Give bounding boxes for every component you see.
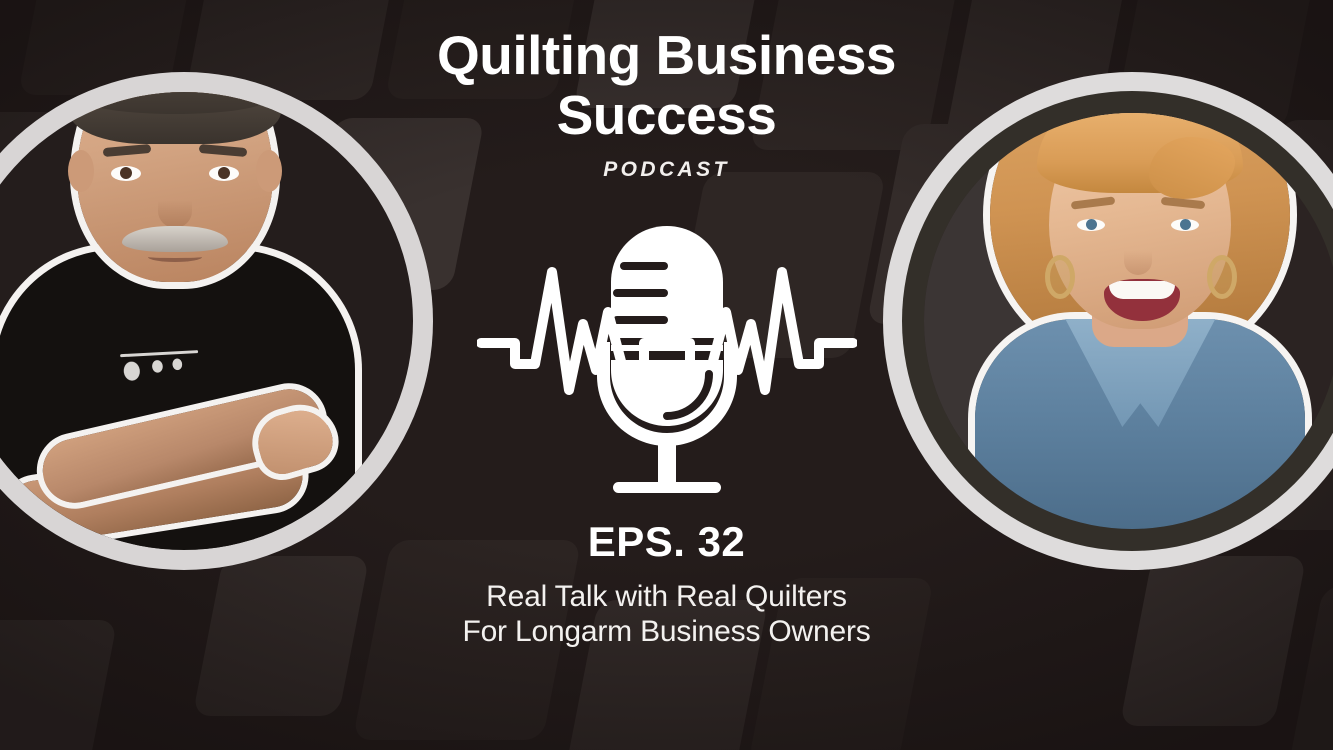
woman-earring-right (1207, 255, 1237, 299)
woman-earring-left (1045, 255, 1075, 299)
portrait-right-disc (924, 113, 1333, 529)
woman-eye-right (1171, 219, 1199, 231)
woman-nose (1124, 235, 1152, 275)
portrait-right-dark-ring (902, 91, 1333, 551)
man-eyebrow-left (103, 144, 152, 157)
background-tile (1119, 556, 1306, 726)
man-eye-right (209, 166, 239, 181)
episode-subtitle-line-2: For Longarm Business Owners (462, 615, 870, 650)
man-shirt-logo (111, 337, 211, 387)
portrait-circle-right (883, 72, 1333, 570)
man-mustache (122, 226, 228, 252)
center-content: Quilting Business Success PODCAST (407, 0, 927, 750)
man-mouth (148, 252, 202, 262)
man-head (77, 92, 273, 282)
episode-info: EPS. 32 Real Talk with Real Quilters For… (462, 518, 870, 650)
background-tile (192, 556, 369, 716)
man-eye-left (111, 166, 141, 181)
woman-teeth (1109, 281, 1175, 299)
host-photo-man (0, 92, 390, 550)
man-ear-right (256, 150, 282, 192)
podcast-cover: Quilting Business Success PODCAST (0, 0, 1333, 750)
portrait-circle-left (0, 72, 433, 570)
woman-eyebrow-left (1071, 196, 1116, 209)
man-crossed-arms (0, 394, 354, 544)
man-hair (69, 92, 281, 144)
woman-head (1049, 113, 1231, 329)
show-title: Quilting Business Success PODCAST (437, 26, 896, 182)
man-eyebrow-right (199, 144, 248, 157)
woman-mouth (1104, 279, 1180, 321)
portrait-left-disc (0, 92, 413, 550)
woman-shirt (975, 319, 1305, 529)
background-tile (0, 620, 117, 750)
title-line-1: Quilting Business (437, 26, 896, 86)
microphone-waveform-icon (477, 210, 857, 500)
man-ear-left (68, 150, 94, 192)
woman-bangs (1037, 113, 1243, 193)
woman-eyebrow-right (1161, 197, 1206, 210)
episode-number: EPS. 32 (462, 518, 870, 566)
episode-subtitle-line-1: Real Talk with Real Quilters (462, 580, 870, 615)
podcast-label: PODCAST (437, 158, 896, 182)
woman-eye-left (1077, 219, 1105, 231)
man-nose (158, 182, 192, 228)
host-photo-woman (940, 113, 1333, 529)
title-line-2: Success (437, 86, 896, 146)
